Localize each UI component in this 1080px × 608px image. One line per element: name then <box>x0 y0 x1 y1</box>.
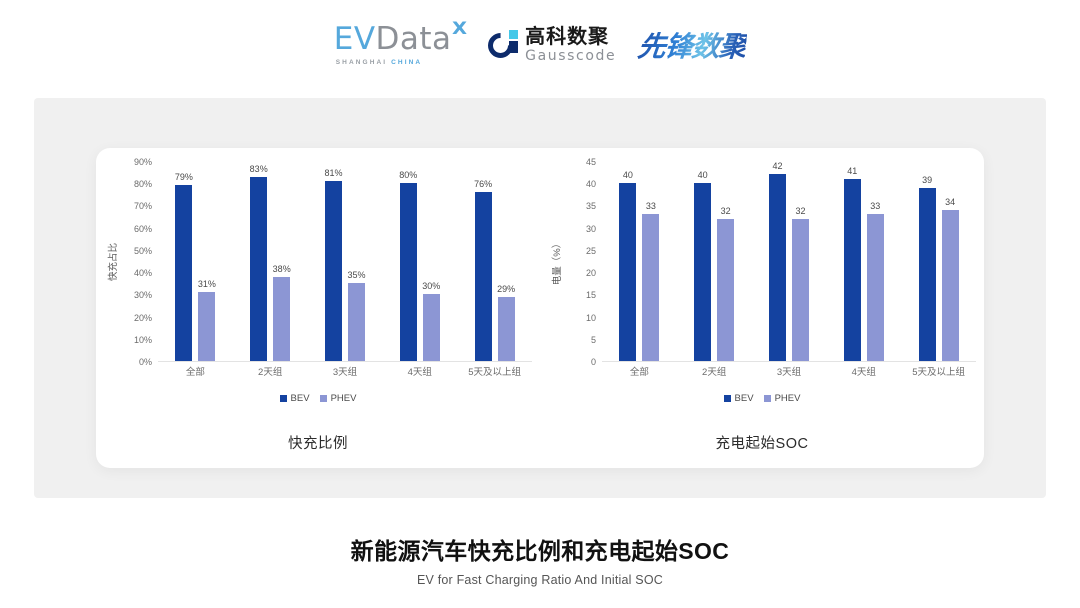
chart-caption: 充电起始SOC <box>540 432 984 453</box>
bar-fill <box>348 283 365 361</box>
bar-value-label: 83% <box>250 164 268 174</box>
bar-group: 81%35% <box>308 162 383 361</box>
bar-value-label: 38% <box>273 264 291 274</box>
bar-value-label: 29% <box>497 284 515 294</box>
y-tick-label: 10 <box>586 313 596 323</box>
gausscode-mark-icon <box>488 30 518 60</box>
y-tick-label: 90% <box>134 157 152 167</box>
legend-swatch-phev-icon <box>320 395 327 402</box>
chart-legend: BEVPHEV <box>96 393 540 404</box>
bar-group: 4033 <box>602 162 677 361</box>
bar-fill <box>694 183 711 361</box>
bar-phev[interactable]: 33 <box>867 161 884 361</box>
gausscode-en-name: Gausscode <box>525 49 616 63</box>
y-axis-ticks: 0%10%20%30%40%50%60%70%80%90% <box>116 162 156 362</box>
bar-bev[interactable]: 40 <box>619 161 636 361</box>
bar-value-label: 80% <box>399 170 417 180</box>
bar-value-label: 79% <box>175 172 193 182</box>
bar-value-label: 42 <box>772 161 782 171</box>
bar-value-label: 32 <box>721 206 731 216</box>
bars-plot: 40334032423241333934 <box>602 162 976 362</box>
x-tick-label: 4天组 <box>382 364 457 382</box>
bar-value-label: 41 <box>847 166 857 176</box>
x-axis-categories: 全部2天组3天组4天组5天及以上组 <box>602 364 976 382</box>
bar-value-label: 34 <box>945 197 955 207</box>
bar-value-label: 39 <box>922 175 932 185</box>
x-tick-label: 3天组 <box>752 364 827 382</box>
bar-fill <box>619 183 636 361</box>
bar-fill <box>642 214 659 361</box>
content-panel: 快充占比0%10%20%30%40%50%60%70%80%90%79%31%8… <box>34 98 1046 498</box>
x-tick-label: 4天组 <box>826 364 901 382</box>
x-tick-label: 全部 <box>158 364 233 382</box>
bar-group: 4133 <box>826 162 901 361</box>
bar-fill <box>919 188 936 361</box>
y-tick-label: 20 <box>586 268 596 278</box>
bars-plot: 79%31%83%38%81%35%80%30%76%29% <box>158 162 532 362</box>
footer-title-cn: 新能源汽车快充比例和充电起始SOC <box>0 532 1080 566</box>
bar-value-label: 35% <box>347 270 365 280</box>
y-axis-ticks: 051015202530354045 <box>560 162 600 362</box>
x-tick-label: 2天组 <box>677 364 752 382</box>
y-tick-label: 0% <box>139 357 152 367</box>
footer: 新能源汽车快充比例和充电起始SOC EV for Fast Charging R… <box>0 532 1080 587</box>
bar-fill <box>198 292 215 361</box>
y-tick-label: 80% <box>134 179 152 189</box>
bar-bev[interactable]: 81% <box>325 161 342 361</box>
bar-fill <box>175 185 192 361</box>
bar-fill <box>769 174 786 361</box>
y-tick-label: 20% <box>134 313 152 323</box>
bar-group: 76%29% <box>457 162 532 361</box>
bar-fill <box>250 177 267 361</box>
bar-fill <box>792 219 809 361</box>
evdata-wordmark: EVDataX <box>334 24 466 55</box>
xianfeng-logo: 先锋数聚 <box>636 25 748 65</box>
bar-group: 4232 <box>752 162 827 361</box>
bar-phev[interactable]: 32 <box>792 161 809 361</box>
y-tick-label: 50% <box>134 246 152 256</box>
bar-value-label: 30% <box>422 281 440 291</box>
x-tick-label: 2天组 <box>233 364 308 382</box>
bar-value-label: 32 <box>795 206 805 216</box>
bar-value-label: 40 <box>698 170 708 180</box>
legend-label: BEV <box>735 393 754 404</box>
chart-legend: BEVPHEV <box>540 393 984 404</box>
bar-value-label: 81% <box>324 168 342 178</box>
legend-swatch-bev-icon <box>724 395 731 402</box>
legend-item-bev[interactable]: BEV <box>280 393 310 404</box>
legend-swatch-bev-icon <box>280 395 287 402</box>
bar-phev[interactable]: 31% <box>198 161 215 361</box>
y-tick-label: 70% <box>134 201 152 211</box>
evdata-ev-text: EV <box>334 24 376 55</box>
y-tick-label: 15 <box>586 290 596 300</box>
charts-card: 快充占比0%10%20%30%40%50%60%70%80%90%79%31%8… <box>96 148 984 468</box>
gausscode-cn-name: 高科数聚 <box>525 27 616 47</box>
x-tick-label: 3天组 <box>308 364 383 382</box>
legend-item-bev[interactable]: BEV <box>724 393 754 404</box>
bar-fill <box>400 183 417 361</box>
bar-group: 80%30% <box>382 162 457 361</box>
legend-label: PHEV <box>775 393 801 404</box>
bar-phev[interactable]: 35% <box>348 161 365 361</box>
bar-phev[interactable]: 30% <box>423 161 440 361</box>
bar-fill <box>325 181 342 361</box>
charts-container: 快充占比0%10%20%30%40%50%60%70%80%90%79%31%8… <box>96 148 984 468</box>
chart-fast-charging-ratio: 快充占比0%10%20%30%40%50%60%70%80%90%79%31%8… <box>96 148 540 468</box>
legend-swatch-phev-icon <box>764 395 771 402</box>
bar-value-label: 33 <box>870 201 880 211</box>
legend-label: PHEV <box>331 393 357 404</box>
bar-value-label: 33 <box>646 201 656 211</box>
bar-bev[interactable]: 83% <box>250 161 267 361</box>
bar-fill <box>498 297 515 361</box>
bar-group: 4032 <box>677 162 752 361</box>
bar-fill <box>273 277 290 361</box>
bar-group: 79%31% <box>158 162 233 361</box>
evdata-tagline-china: CHINA <box>391 59 422 66</box>
plot-area: 快充占比0%10%20%30%40%50%60%70%80%90%79%31%8… <box>96 162 540 392</box>
x-tick-label: 5天及以上组 <box>457 364 532 382</box>
bar-fill <box>423 294 440 361</box>
evdata-tagline-shanghai: SHANGHAI <box>336 59 387 66</box>
bar-fill <box>844 179 861 361</box>
bar-bev[interactable]: 79% <box>175 161 192 361</box>
gausscode-logo: 高科数聚 Gausscode <box>488 27 616 63</box>
bar-phev[interactable]: 29% <box>498 161 515 361</box>
x-axis-categories: 全部2天组3天组4天组5天及以上组 <box>158 364 532 382</box>
footer-title-en: EV for Fast Charging Ratio And Initial S… <box>0 573 1080 587</box>
bar-value-label: 40 <box>623 170 633 180</box>
y-tick-label: 40% <box>134 268 152 278</box>
bar-fill <box>942 210 959 361</box>
bar-phev[interactable]: 32 <box>717 161 734 361</box>
bar-group: 3934 <box>901 162 976 361</box>
y-tick-label: 30% <box>134 290 152 300</box>
x-tick-label: 5天及以上组 <box>901 364 976 382</box>
y-tick-label: 40 <box>586 179 596 189</box>
gausscode-square-cyan-icon <box>509 30 518 39</box>
bar-bev[interactable]: 39 <box>919 161 936 361</box>
evdata-data-text: Data <box>376 24 452 55</box>
y-tick-label: 10% <box>134 335 152 345</box>
bar-bev[interactable]: 41 <box>844 161 861 361</box>
slide-root: EVDataX SHANGHAI CHINA 高科数聚 Gausscode 先锋… <box>0 0 1080 608</box>
x-tick-label: 全部 <box>602 364 677 382</box>
bar-bev[interactable]: 40 <box>694 161 711 361</box>
y-tick-label: 60% <box>134 224 152 234</box>
evdata-logo: EVDataX SHANGHAI CHINA <box>334 24 466 66</box>
logo-bar: EVDataX SHANGHAI CHINA 高科数聚 Gausscode 先锋… <box>0 24 1080 66</box>
bar-phev[interactable]: 33 <box>642 161 659 361</box>
bar-phev[interactable]: 34 <box>942 161 959 361</box>
y-tick-label: 25 <box>586 246 596 256</box>
legend-item-phev[interactable]: PHEV <box>764 393 801 404</box>
bar-fill <box>717 219 734 361</box>
gausscode-text: 高科数聚 Gausscode <box>525 27 616 63</box>
bar-value-label: 76% <box>474 179 492 189</box>
y-tick-label: 0 <box>591 357 596 367</box>
legend-item-phev[interactable]: PHEV <box>320 393 357 404</box>
bar-bev[interactable]: 80% <box>400 161 417 361</box>
chart-initial-soc: 电量（%）05101520253035404540334032423241333… <box>540 148 984 468</box>
gausscode-square-navy-icon <box>509 41 518 53</box>
plot-area: 电量（%）05101520253035404540334032423241333… <box>540 162 984 392</box>
bar-group: 83%38% <box>233 162 308 361</box>
y-tick-label: 5 <box>591 335 596 345</box>
bar-bev[interactable]: 42 <box>769 161 786 361</box>
evdata-tagline: SHANGHAI CHINA <box>336 59 422 66</box>
bar-phev[interactable]: 38% <box>273 161 290 361</box>
bar-value-label: 31% <box>198 279 216 289</box>
legend-label: BEV <box>291 393 310 404</box>
bar-bev[interactable]: 76% <box>475 161 492 361</box>
bar-fill <box>475 192 492 361</box>
chart-caption: 快充比例 <box>96 432 540 453</box>
y-tick-label: 35 <box>586 201 596 211</box>
y-tick-label: 45 <box>586 157 596 167</box>
evdata-x-icon: X <box>452 21 468 38</box>
bar-fill <box>867 214 884 361</box>
y-tick-label: 30 <box>586 224 596 234</box>
